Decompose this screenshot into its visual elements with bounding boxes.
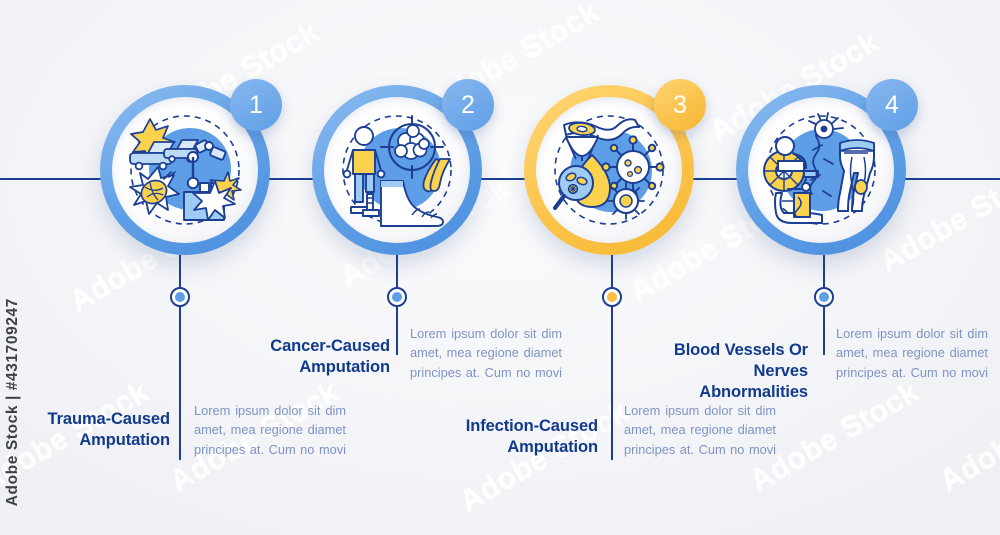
- step-stem-1: [179, 255, 181, 460]
- step-circle-3[interactable]: 3: [524, 85, 694, 255]
- step-dot-4: [814, 287, 834, 307]
- step-dot-3: [602, 287, 622, 307]
- step-body-2: Lorem ipsum dolor sit dim amet, mea regi…: [410, 324, 562, 382]
- step-badge-4: 4: [866, 79, 918, 131]
- step-title-3: Infection-Caused Amputation: [440, 416, 598, 458]
- step-badge-1: 1: [230, 79, 282, 131]
- step-body-3: Lorem ipsum dolor sit dim amet, mea regi…: [624, 401, 776, 459]
- step-title-4: Blood Vessels Or Nerves Abnormalities: [650, 340, 808, 403]
- step-badge-3: 3: [654, 79, 706, 131]
- step-circle-4[interactable]: 4: [736, 85, 906, 255]
- stock-id-label: Adobe Stock | #431709247: [4, 298, 22, 506]
- step-stem-3: [611, 255, 613, 460]
- step-title-1: Trauma-Caused Amputation: [10, 409, 170, 451]
- infographic-canvas: Adobe Stock Adobe Stock Adobe Stock Adob…: [0, 0, 1000, 535]
- step-title-2: Cancer-Caused Amputation: [230, 336, 390, 378]
- step-dot-1: [170, 287, 190, 307]
- step-body-1: Lorem ipsum dolor sit dim amet, mea regi…: [194, 401, 346, 459]
- step-circle-2[interactable]: 2: [312, 85, 482, 255]
- step-circle-1[interactable]: 1: [100, 85, 270, 255]
- watermark-text: Adobe Stock: [934, 375, 1000, 499]
- step-badge-2: 2: [442, 79, 494, 131]
- step-dot-2: [387, 287, 407, 307]
- step-body-4: Lorem ipsum dolor sit dim amet, mea regi…: [836, 324, 988, 382]
